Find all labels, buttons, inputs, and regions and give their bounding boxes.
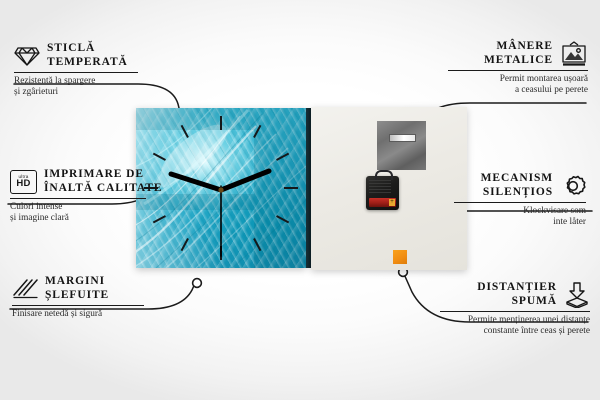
- callout-title-line1: STICLĂ: [47, 42, 128, 56]
- callout-subtitle-line1: Klockvisare som: [426, 206, 586, 217]
- metal-hanger-plate: [377, 121, 426, 170]
- callout-subtitle-line1: Finisare netedă și sigură: [12, 309, 182, 320]
- callout-divider: [440, 311, 590, 312]
- battery-plus-terminal: +: [389, 199, 395, 206]
- callout-subtitle-line1: Culori intense: [10, 202, 180, 213]
- callout-divider: [454, 202, 586, 203]
- ultra-hd-icon-large-text: HD: [16, 179, 30, 189]
- callout-title-line2: METALICE: [484, 54, 553, 68]
- callout-subtitle-line2: și imagine clară: [10, 213, 180, 224]
- callout-subtitle-line1: Permite menținerea unei distanțe: [410, 315, 590, 326]
- callout-subtitle-line2: constante între ceas și perete: [410, 326, 590, 337]
- callout-subtitle-line2: inte låter: [426, 217, 586, 228]
- callout-metal-handles: MÂNERE METALICE Permit montarea ușoară a…: [418, 40, 588, 96]
- callout-title-line1: IMPRIMARE DE: [44, 168, 162, 182]
- callout-silent-mechanism: MECANISM SILENȚIOS Klockvisare som inte …: [426, 172, 586, 228]
- diamond-icon: [14, 45, 40, 67]
- callout-title-line2: ȘLEFUITE: [45, 289, 109, 303]
- callout-polished-edges: MARGINI ȘLEFUITE Finisare netedă și sigu…: [12, 275, 182, 320]
- infographic-canvas: + STICLĂ TEMPERATĂ Rezistentă la sparger…: [0, 0, 600, 400]
- foam-spacer-icon: [564, 282, 590, 308]
- gear-icon: [560, 173, 586, 199]
- callout-divider: [12, 305, 144, 306]
- callout-title-line1: MARGINI: [45, 275, 109, 289]
- leader-endpoint-left-3: [193, 279, 202, 288]
- callout-tempered-glass: STICLĂ TEMPERATĂ Rezistentă la spargere …: [14, 42, 174, 98]
- callout-title-line2: SILENȚIOS: [481, 186, 553, 200]
- callout-subtitle-line2: a ceasului pe perete: [418, 85, 588, 96]
- callout-subtitle-line2: și zgârieturi: [14, 87, 174, 98]
- hanging-frame-icon: [560, 41, 588, 67]
- clock-center-cap: [218, 187, 223, 192]
- callout-title-line2: ÎNALTĂ CALITATE: [44, 182, 162, 196]
- callout-title-line1: DISTANȚIER: [477, 281, 557, 295]
- hanger-keyhole-slot: [389, 134, 416, 142]
- callout-divider: [10, 198, 146, 199]
- callout-subtitle-line1: Permit montarea ușoară: [418, 74, 588, 85]
- callout-divider: [448, 70, 588, 71]
- battery: +: [369, 198, 396, 207]
- ultra-hd-icon: ultra HD: [10, 170, 37, 194]
- callout-foam-spacer: DISTANȚIER SPUMĂ Permite menținerea unei…: [410, 281, 590, 337]
- callout-title-line1: MÂNERE: [484, 40, 553, 54]
- callout-subtitle-line1: Rezistentă la spargere: [14, 76, 174, 87]
- polished-edges-icon: [12, 278, 38, 299]
- callout-high-quality-print: ultra HD IMPRIMARE DE ÎNALTĂ CALITATE Cu…: [10, 168, 180, 224]
- clock-hands: [171, 171, 269, 256]
- callout-title-line1: MECANISM: [481, 172, 553, 186]
- callout-title-line2: TEMPERATĂ: [47, 56, 128, 70]
- orange-foam-spacer: [393, 250, 407, 264]
- mechanism-label-texture: [369, 180, 391, 194]
- callout-title-line2: SPUMĂ: [477, 295, 557, 309]
- callout-divider: [14, 72, 138, 73]
- quartz-clock-mechanism: +: [366, 176, 399, 210]
- mechanism-hanging-loop: [375, 170, 393, 180]
